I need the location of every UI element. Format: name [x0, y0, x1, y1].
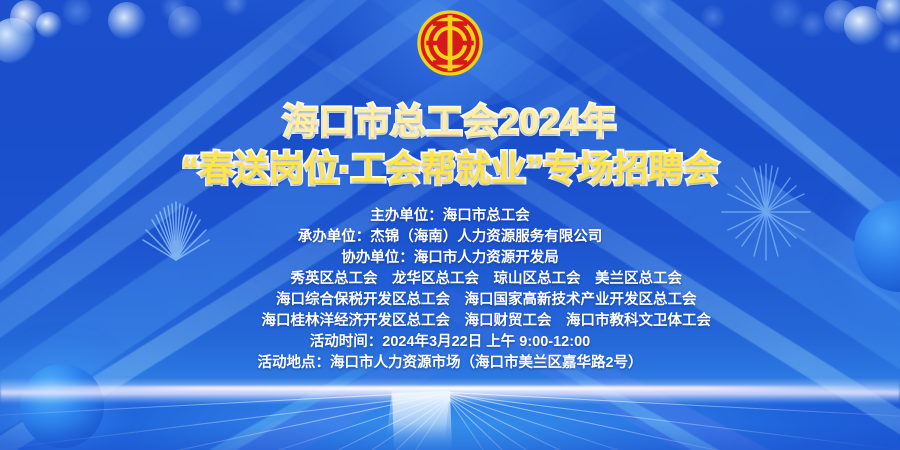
event-info-block: 主办单位：海口市总工会 承办单位：杰锦（海南）人力资源服务有限公司 协办单位：海… — [0, 206, 900, 374]
info-row-text: 主办单位：海口市总工会 — [370, 208, 530, 224]
info-row: 活动地点：海口市人力资源市场（海口市美兰区嘉华路2号） — [0, 353, 900, 374]
banner-titles: 海口市总工会2024年 “春送岗位·工会帮就业”专场招聘会 — [0, 100, 900, 194]
info-row-text: 海口桂林洋经济开发区总工会 海口财贸工会 海口市教科文卫体工会 — [189, 313, 711, 329]
info-row: 秀英区总工会 龙华区总工会 琼山区总工会 美兰区总工会 — [0, 269, 900, 290]
info-row-text: 秀英区总工会 龙华区总工会 琼山区总工会 美兰区总工会 — [218, 271, 682, 287]
info-row-text: 承办单位：杰锦（海南）人力资源服务有限公司 — [298, 229, 603, 245]
info-row-text: 协办单位：海口市人力资源开发局 — [341, 250, 559, 266]
info-row: 承办单位：杰锦（海南）人力资源服务有限公司 — [0, 227, 900, 248]
info-row-text: 海口综合保税开发区总工会 海口国家高新技术产业开发区总工会 — [204, 292, 697, 308]
info-row-text: 活动时间：2024年3月22日 上午 9:00-12:00 — [310, 334, 590, 350]
info-row-text: 活动地点：海口市人力资源市场（海口市美兰区嘉华路2号） — [257, 355, 642, 371]
info-row: 主办单位：海口市总工会 — [0, 206, 900, 227]
title-line-2: “春送岗位·工会帮就业”专场招聘会 — [0, 146, 900, 194]
recruitment-banner: 海口市总工会2024年 “春送岗位·工会帮就业”专场招聘会 主办单位：海口市总工… — [0, 0, 900, 450]
info-row: 海口综合保税开发区总工会 海口国家高新技术产业开发区总工会 — [0, 290, 900, 311]
info-row: 活动时间：2024年3月22日 上午 9:00-12:00 — [0, 332, 900, 353]
info-row: 协办单位：海口市人力资源开发局 — [0, 248, 900, 269]
perspective-floor — [0, 390, 900, 450]
title-line-1: 海口市总工会2024年 — [0, 100, 900, 146]
info-row: 海口桂林洋经济开发区总工会 海口财贸工会 海口市教科文卫体工会 — [0, 311, 900, 332]
union-emblem-icon — [417, 10, 483, 76]
